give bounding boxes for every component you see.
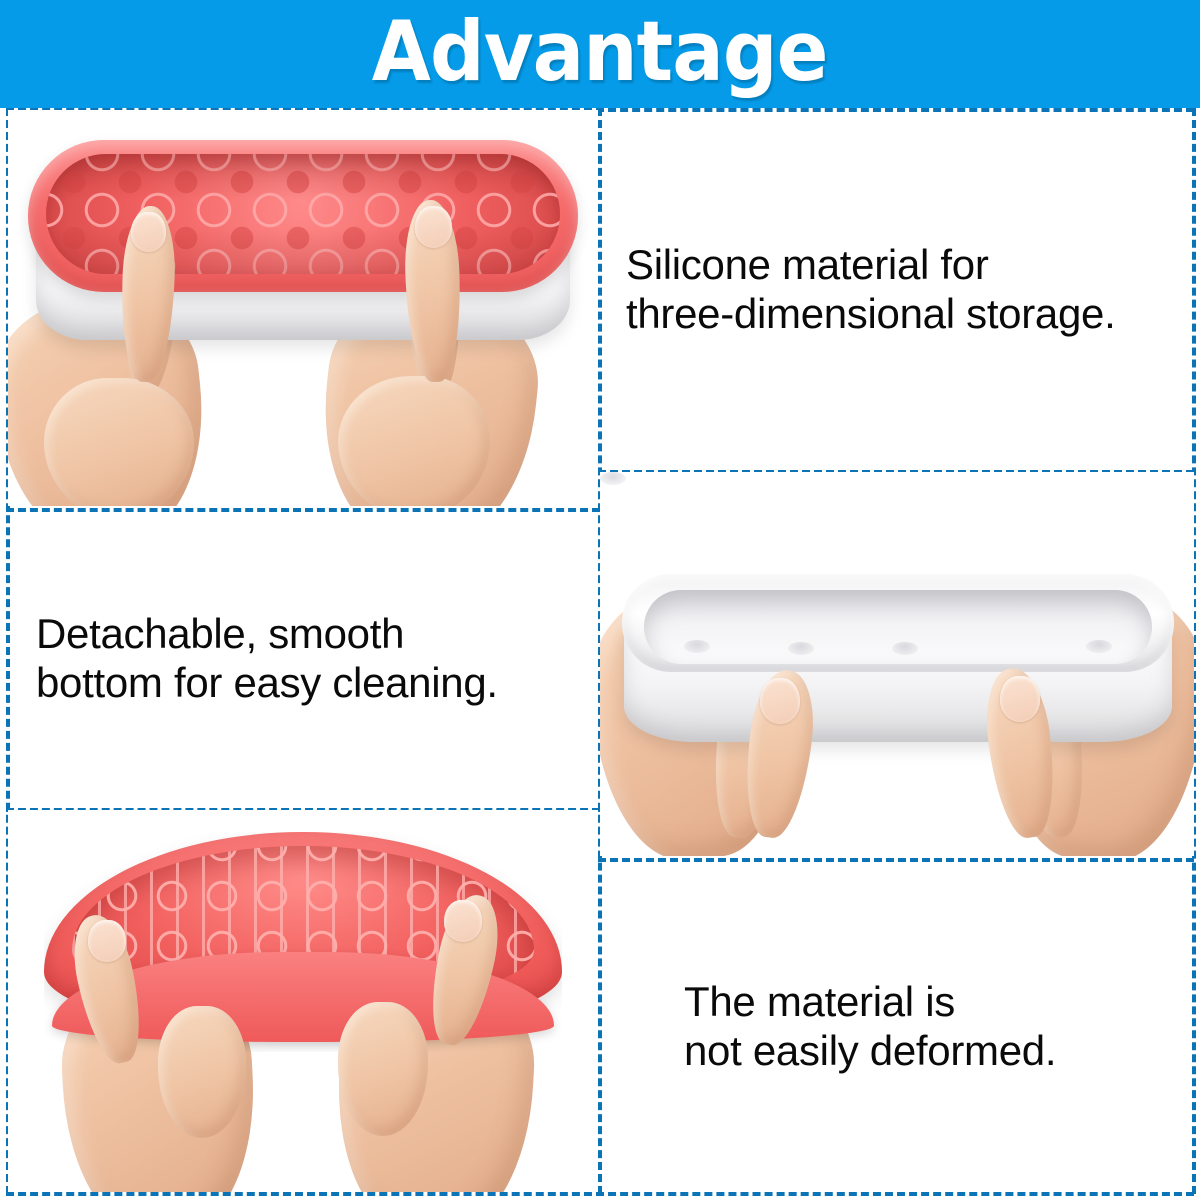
pink-insert-cavity (46, 154, 560, 274)
panel-caption-detachable: Detachable, smooth bottom for easy clean… (8, 510, 598, 806)
cavity-shading (46, 154, 560, 274)
caption-silicone-material: Silicone material for three-dimensional … (626, 240, 1194, 338)
left-thumbnail-front (131, 212, 166, 252)
panel-caption-silicone: Silicone material for three-dimensional … (600, 110, 1194, 468)
caption-line-1: The material is (684, 977, 1194, 1026)
panel-caption-deform: The material is not easily deformed. (600, 860, 1194, 1192)
caption-not-deformed: The material is not easily deformed. (684, 977, 1194, 1075)
panel-flex-photo (8, 810, 598, 1192)
right-knuckles (338, 376, 490, 506)
right-thumbnail-front (415, 206, 452, 248)
caption-detachable-bottom: Detachable, smooth bottom for easy clean… (36, 609, 598, 707)
caption-line-1: Detachable, smooth (36, 609, 598, 658)
panel-white-base-photo (600, 472, 1194, 856)
left-thumbnail-front (760, 678, 800, 724)
right-thumbnail (444, 900, 482, 942)
left-thumbnail (88, 920, 126, 962)
product-photo-silicone-tray (8, 110, 598, 506)
product-photo-flexed-silicone (8, 810, 598, 1192)
right-thumbnail-front (1000, 676, 1040, 722)
left-knuckles (44, 378, 194, 506)
base-dimple (788, 642, 814, 655)
page-title: Advantage (372, 10, 828, 99)
base-dimple (892, 642, 918, 655)
base-dimple (1086, 640, 1112, 653)
caption-line-1: Silicone material for (626, 240, 1194, 289)
infographic-page: Advantage (0, 0, 1200, 1200)
product-photo-white-base (600, 472, 1194, 856)
caption-line-2: three-dimensional storage. (626, 289, 1194, 338)
base-dimple (684, 640, 710, 653)
caption-line-2: bottom for easy cleaning. (36, 658, 598, 707)
caption-line-2: not easily deformed. (684, 1026, 1194, 1075)
header-banner: Advantage (0, 0, 1200, 108)
panel-silicone-tray-photo (8, 110, 598, 506)
base-dimple (600, 472, 626, 485)
